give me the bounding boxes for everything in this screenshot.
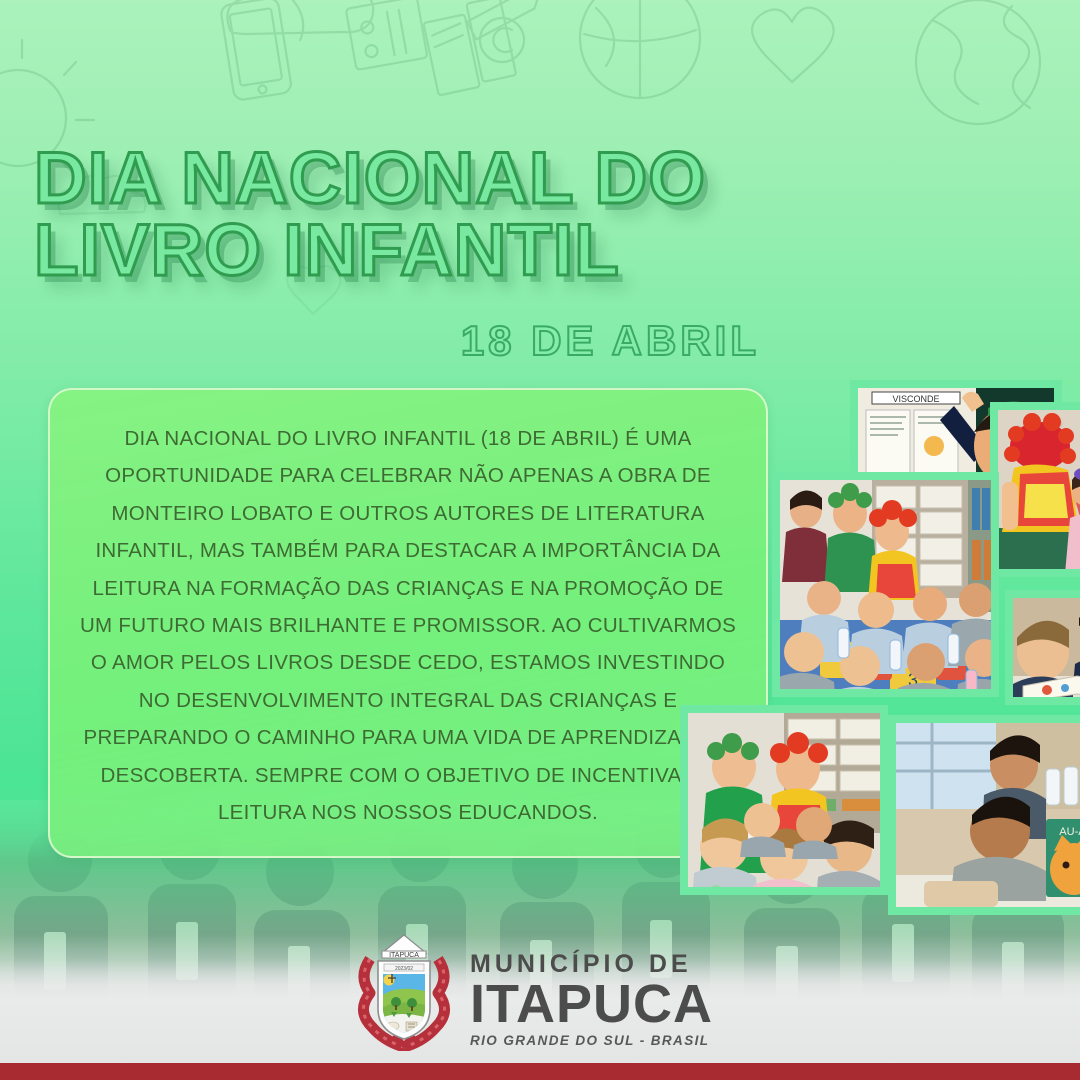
copyright-icon	[480, 18, 524, 62]
photo-frame-children-reading-picture-book	[1005, 590, 1080, 705]
cloud-icon	[227, 0, 373, 34]
radio-icon	[346, 0, 428, 70]
photo-frame-clown-and-children	[990, 402, 1080, 577]
photo-children-reading-picture-book-table	[1013, 598, 1080, 697]
title-line-2: LIVRO INFANTIL	[34, 215, 794, 287]
wordmark-line-1: MUNICÍPIO DE	[470, 952, 713, 977]
photo-clown-costume-children-masks	[998, 410, 1080, 569]
heart-icon	[752, 8, 834, 82]
crest-banner-text: ITAPUCA	[389, 952, 419, 959]
photo-frame-teacher-and-children	[680, 705, 888, 895]
photo-teacher-and-children-library-group	[688, 713, 880, 887]
globe-icon	[580, 0, 700, 98]
title-line-1: DIA NACIONAL DO	[34, 138, 706, 219]
globe-icon	[916, 0, 1040, 124]
footer-brand: ITAPUCA 2023/02	[352, 932, 752, 1052]
photo-collage: VISCONDE	[660, 360, 1080, 1000]
photo-frame-children-group-floor: 2 3	[772, 472, 999, 697]
photo-boy-reading-au-au-miau-book: AU-AU-MIAU	[896, 723, 1080, 907]
pencil-icon	[467, 0, 543, 39]
page-title: DIA NACIONAL DO LIVRO INFANTIL	[34, 143, 794, 286]
books-icon	[421, 0, 517, 95]
itapuca-coat-of-arms: ITAPUCA 2023/02	[352, 933, 456, 1051]
wordmark: MUNICÍPIO DE ITAPUCA RIO GRANDE DO SUL -…	[470, 936, 713, 1049]
svg-text:VISCONDE: VISCONDE	[892, 394, 939, 404]
poster-canvas: DIA NACIONAL DO LIVRO INFANTIL 18 DE ABR…	[0, 0, 1080, 1080]
smartphone-icon	[220, 0, 314, 101]
wordmark-line-3: RIO GRANDE DO SUL - BRASIL	[470, 1033, 713, 1048]
wordmark-line-2: ITAPUCA	[470, 979, 713, 1031]
bottom-red-bar	[0, 1063, 1080, 1080]
body-paragraph: DIA NACIONAL DO LIVRO INFANTIL (18 DE AB…	[76, 420, 740, 831]
subtitle-date: 18 DE ABRIL	[34, 317, 760, 365]
photo-frame-boy-reading-au-au-miau: AU-AU-MIAU	[888, 715, 1080, 915]
photo-children-group-floor-bookshelves-clowns: 2 3	[780, 480, 991, 689]
crest-motto-text: 2023/02	[395, 966, 413, 972]
